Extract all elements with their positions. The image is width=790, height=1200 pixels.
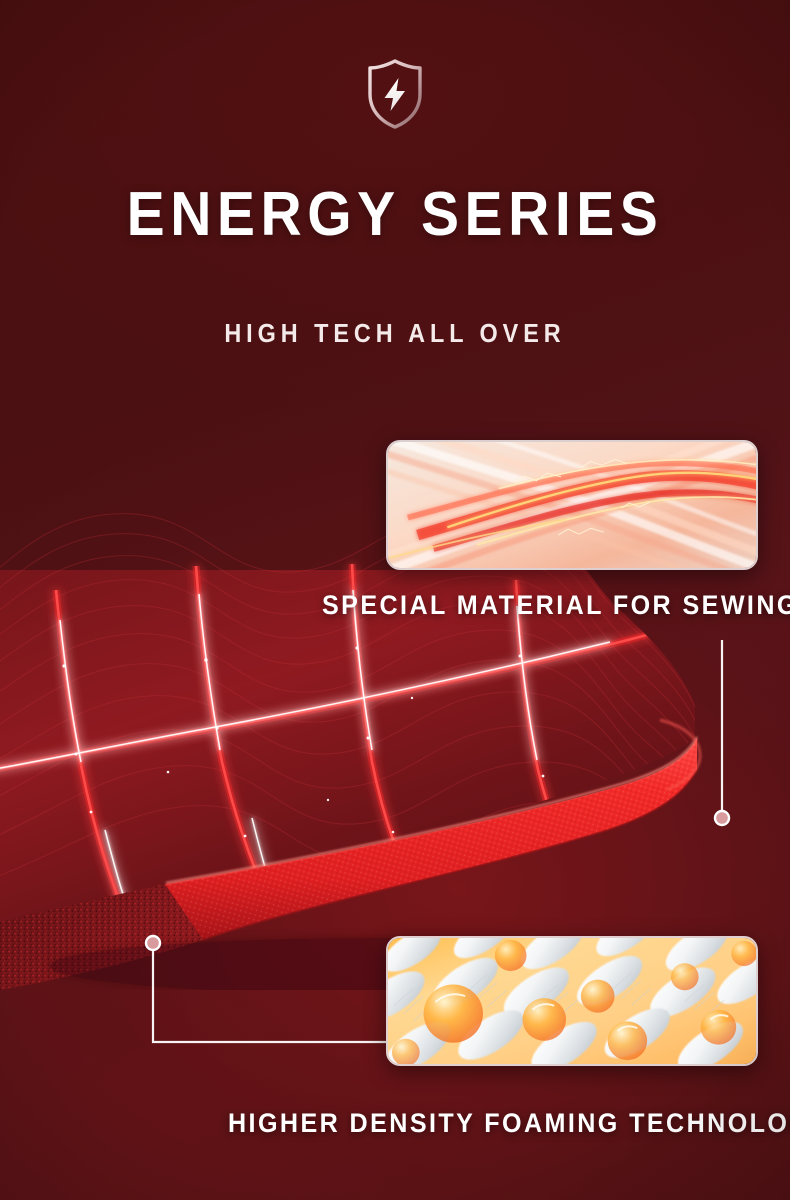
feature-inset-sewing[interactable] (386, 440, 758, 570)
macro-foam-cell-image (388, 938, 756, 1064)
shield-bolt-icon (364, 58, 426, 130)
macro-woven-fiber-image (388, 442, 756, 568)
feature-label-sewing: SPECIAL MATERIAL FOR SEWING (322, 590, 790, 621)
feature-inset-foaming[interactable] (386, 936, 758, 1066)
promo-poster: ENERGY SERIES HIGH TECH ALL OVER (0, 0, 790, 1200)
feature-label-foaming: HIGHER DENSITY FOAMING TECHNOLOGY (228, 1108, 790, 1139)
page-subtitle: HIGH TECH ALL OVER (40, 318, 751, 349)
brand-badge (0, 58, 790, 130)
page-title: ENERGY SERIES (32, 184, 759, 246)
